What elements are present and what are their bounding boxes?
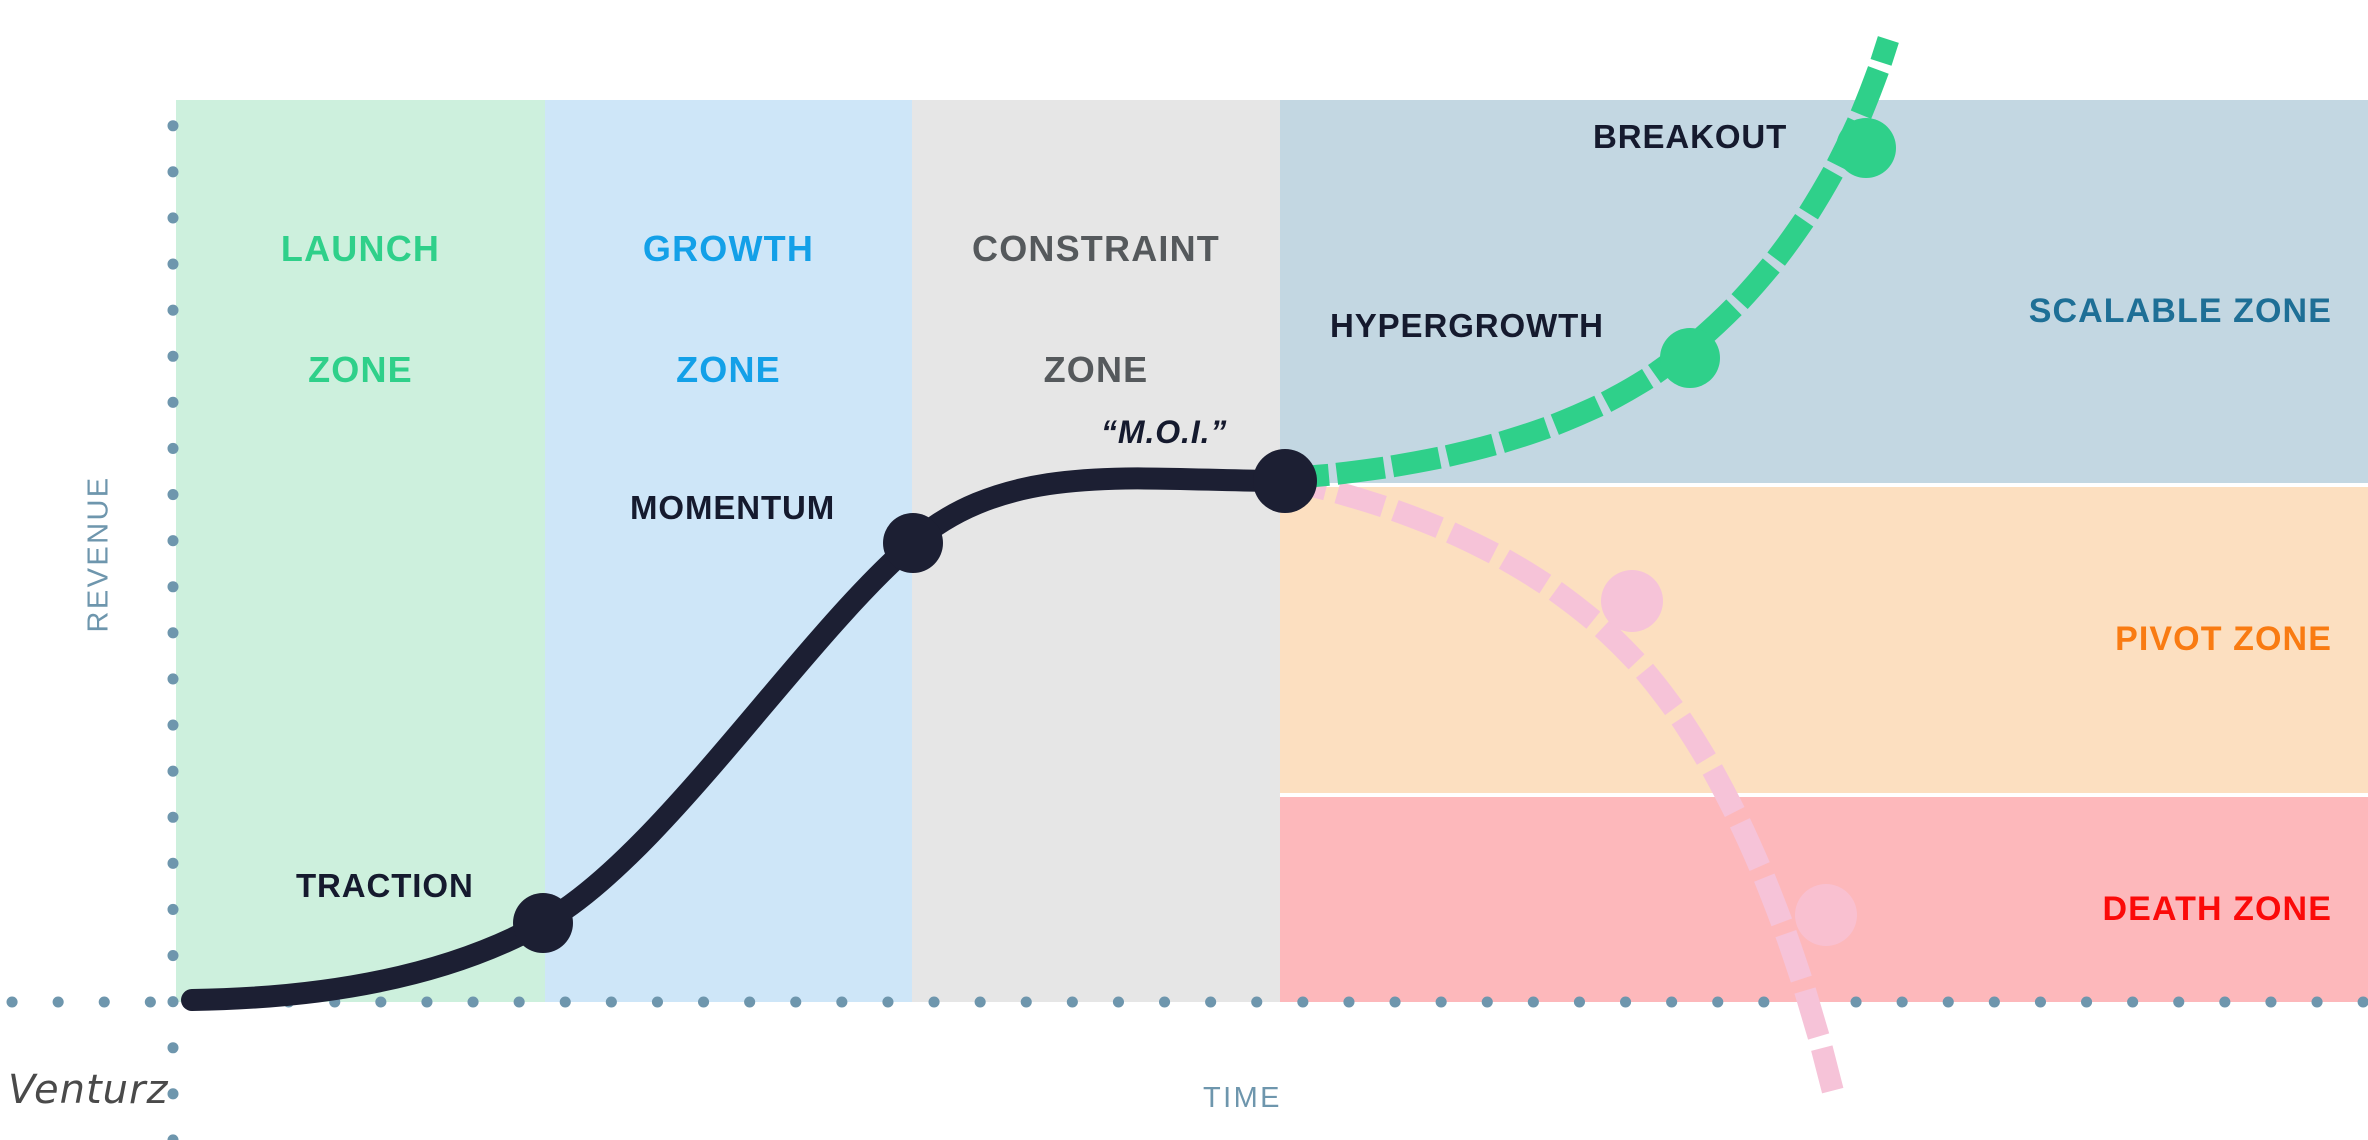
- zone-title-constraint-line2: ZONE: [912, 350, 1280, 390]
- y-axis-title-revenue: REVENUE: [83, 475, 115, 632]
- breakout-node-breakout: [1836, 118, 1896, 178]
- core-node-traction: [513, 893, 573, 953]
- zone-title-growth-line1: GROWTH: [545, 229, 912, 269]
- zone-title-launch-line2: ZONE: [176, 350, 545, 390]
- core-node-momentum: [883, 513, 943, 573]
- zone-title-launch: LAUNCH ZONE: [176, 148, 545, 471]
- zone-title-pivot: PIVOT ZONE: [1280, 620, 2332, 658]
- node-label-momentum: MOMENTUM: [630, 490, 835, 527]
- zone-title-growth-line2: ZONE: [545, 350, 912, 390]
- zone-title-death: DEATH ZONE: [1280, 890, 2332, 928]
- breakout-node-hypergrowth: [1660, 328, 1720, 388]
- node-label-traction: TRACTION: [296, 868, 474, 905]
- chart-canvas: LAUNCH ZONE GROWTH ZONE CONSTRAINT ZONE …: [0, 0, 2368, 1140]
- brand-watermark: Venturz: [8, 1068, 168, 1113]
- zone-title-launch-line1: LAUNCH: [176, 229, 545, 269]
- zone-title-constraint-line1: CONSTRAINT: [912, 229, 1280, 269]
- x-axis-title-time: TIME: [1203, 1082, 1282, 1114]
- node-label-moi: “M.O.I.”: [1101, 415, 1227, 451]
- node-label-breakout: BREAKOUT: [1593, 119, 1787, 156]
- zone-title-growth: GROWTH ZONE: [545, 148, 912, 471]
- node-label-hypergrowth: HYPERGROWTH: [1330, 308, 1604, 345]
